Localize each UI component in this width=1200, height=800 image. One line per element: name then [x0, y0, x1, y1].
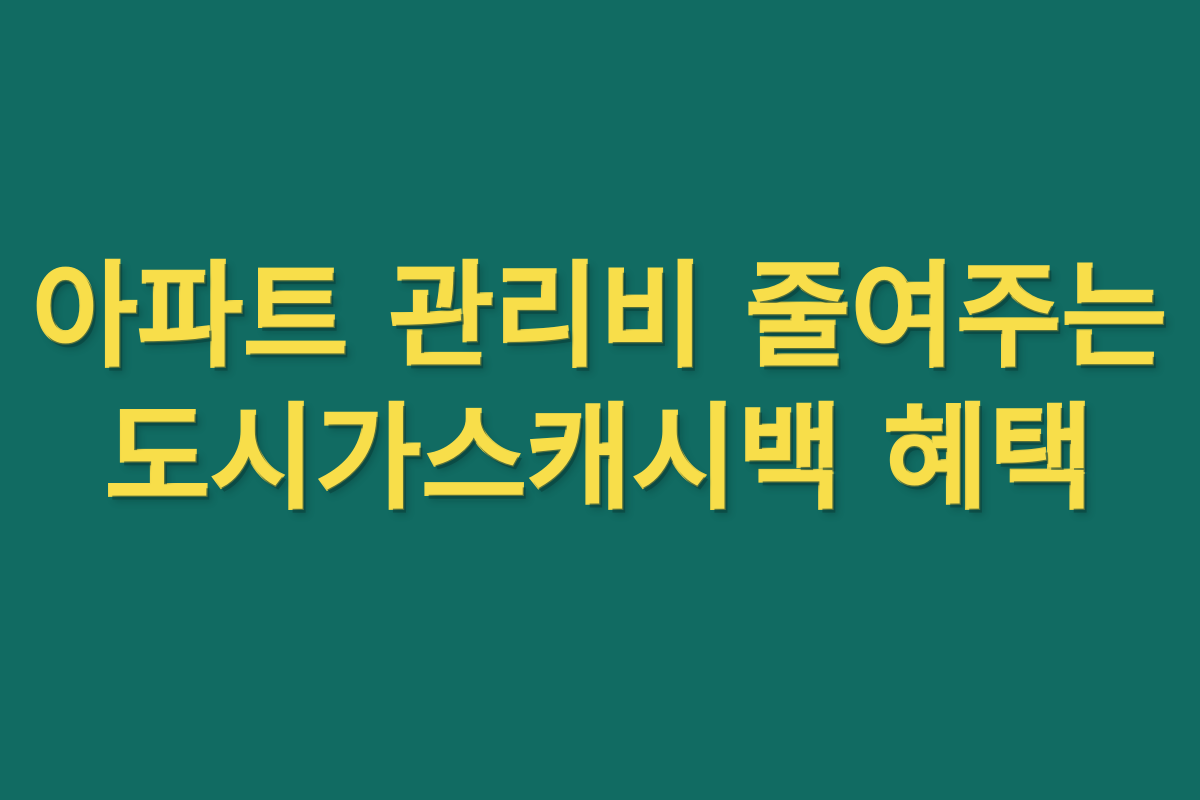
headline-block: 아파트 관리비 줄여주는 도시가스캐시백 혜택 — [0, 247, 1200, 529]
headline-line-1: 아파트 관리비 줄여주는 — [32, 247, 1167, 387]
poster-canvas: 아파트 관리비 줄여주는 도시가스캐시백 혜택 — [0, 0, 1200, 800]
headline-line-2: 도시가스캐시백 혜택 — [105, 389, 1094, 529]
